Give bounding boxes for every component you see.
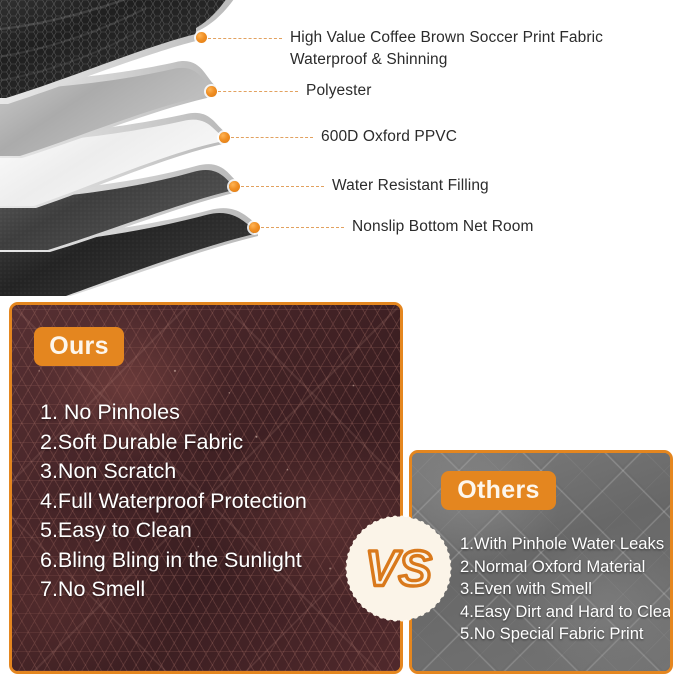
layers-diagram-section: High Value Coffee Brown Soccer Print Fab… [0,0,679,296]
vs-badge-label: VS [365,541,432,597]
ours-badge: Ours [34,327,124,366]
ours-feature-list: 1. No Pinholes 2.Soft Durable Fabric 3.N… [40,398,307,605]
list-item: 5.No Special Fabric Print [460,623,673,646]
ours-badge-label: Ours [49,332,109,361]
list-item: 1.With Pinhole Water Leaks [460,533,673,556]
list-item: 6.Bling Bling in the Sunlight [40,546,307,576]
list-item: 1. No Pinholes [40,398,307,428]
list-item: 4.Easy Dirt and Hard to Clean [460,601,673,624]
others-badge: Others [441,471,556,510]
vs-badge: VS [345,515,452,622]
others-badge-label: Others [457,476,539,505]
list-item: 4.Full Waterproof Protection [40,487,307,517]
infographic-page: High Value Coffee Brown Soccer Print Fab… [0,0,679,681]
comparison-section: Ours 1. No Pinholes 2.Soft Durable Fabri… [0,296,679,681]
ours-panel: Ours 1. No Pinholes 2.Soft Durable Fabri… [9,302,403,674]
vs-badge-graphic: VS [345,515,452,622]
list-item: 3.Non Scratch [40,457,307,487]
list-item: 2.Soft Durable Fabric [40,428,307,458]
list-item: 5.Easy to Clean [40,516,307,546]
list-item: 7.No Smell [40,575,307,605]
list-item: 2.Normal Oxford Material [460,556,673,579]
others-feature-list: 1.With Pinhole Water Leaks 2.Normal Oxfo… [460,533,673,646]
list-item: 3.Even with Smell [460,578,673,601]
layered-fabric-illustration [0,0,679,296]
